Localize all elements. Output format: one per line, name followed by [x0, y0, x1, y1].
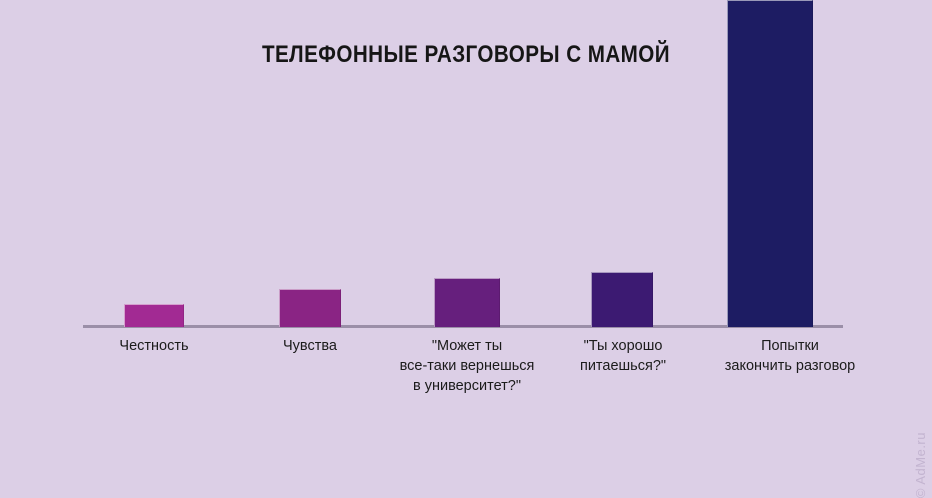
x-tick-label-2-line-1: Чувства [240, 336, 380, 356]
bar-chuvstva [279, 289, 341, 327]
x-tick-label-4: "Ты хорошо питаешься?" [552, 336, 694, 376]
watermark-adme: © AdMe.ru [913, 432, 928, 498]
x-tick-label-3-line-3: в университет?" [392, 376, 542, 396]
x-tick-label-1-line-1: Честность [84, 336, 224, 356]
chart-container: ТЕЛЕФОННЫЕ РАЗГОВОРЫ С МАМОЙ Честность Ч… [0, 0, 932, 440]
x-tick-label-5-line-1: Попытки [690, 336, 890, 356]
plot-area: Честность Чувства "Может ты все-таки вер… [0, 0, 932, 440]
x-tick-label-3-line-2: все-таки вернешься [392, 356, 542, 376]
bar-ty-khorosho-pitaeshsya [591, 272, 653, 327]
x-tick-label-3: "Может ты все-таки вернешься в университ… [392, 336, 542, 396]
x-tick-label-4-line-1: "Ты хорошо [552, 336, 694, 356]
bar-vernyoshsya-v-universitet [434, 278, 500, 327]
x-tick-label-2: Чувства [240, 336, 380, 356]
x-tick-label-5: Попытки закончить разговор [690, 336, 890, 376]
x-tick-label-4-line-2: питаешься?" [552, 356, 694, 376]
bar-chestnost [124, 304, 184, 327]
x-tick-label-5-line-2: закончить разговор [690, 356, 890, 376]
x-tick-label-3-line-1: "Может ты [392, 336, 542, 356]
x-tick-label-1: Честность [84, 336, 224, 356]
bar-popytki-zakonchit-razgovor [727, 0, 813, 327]
